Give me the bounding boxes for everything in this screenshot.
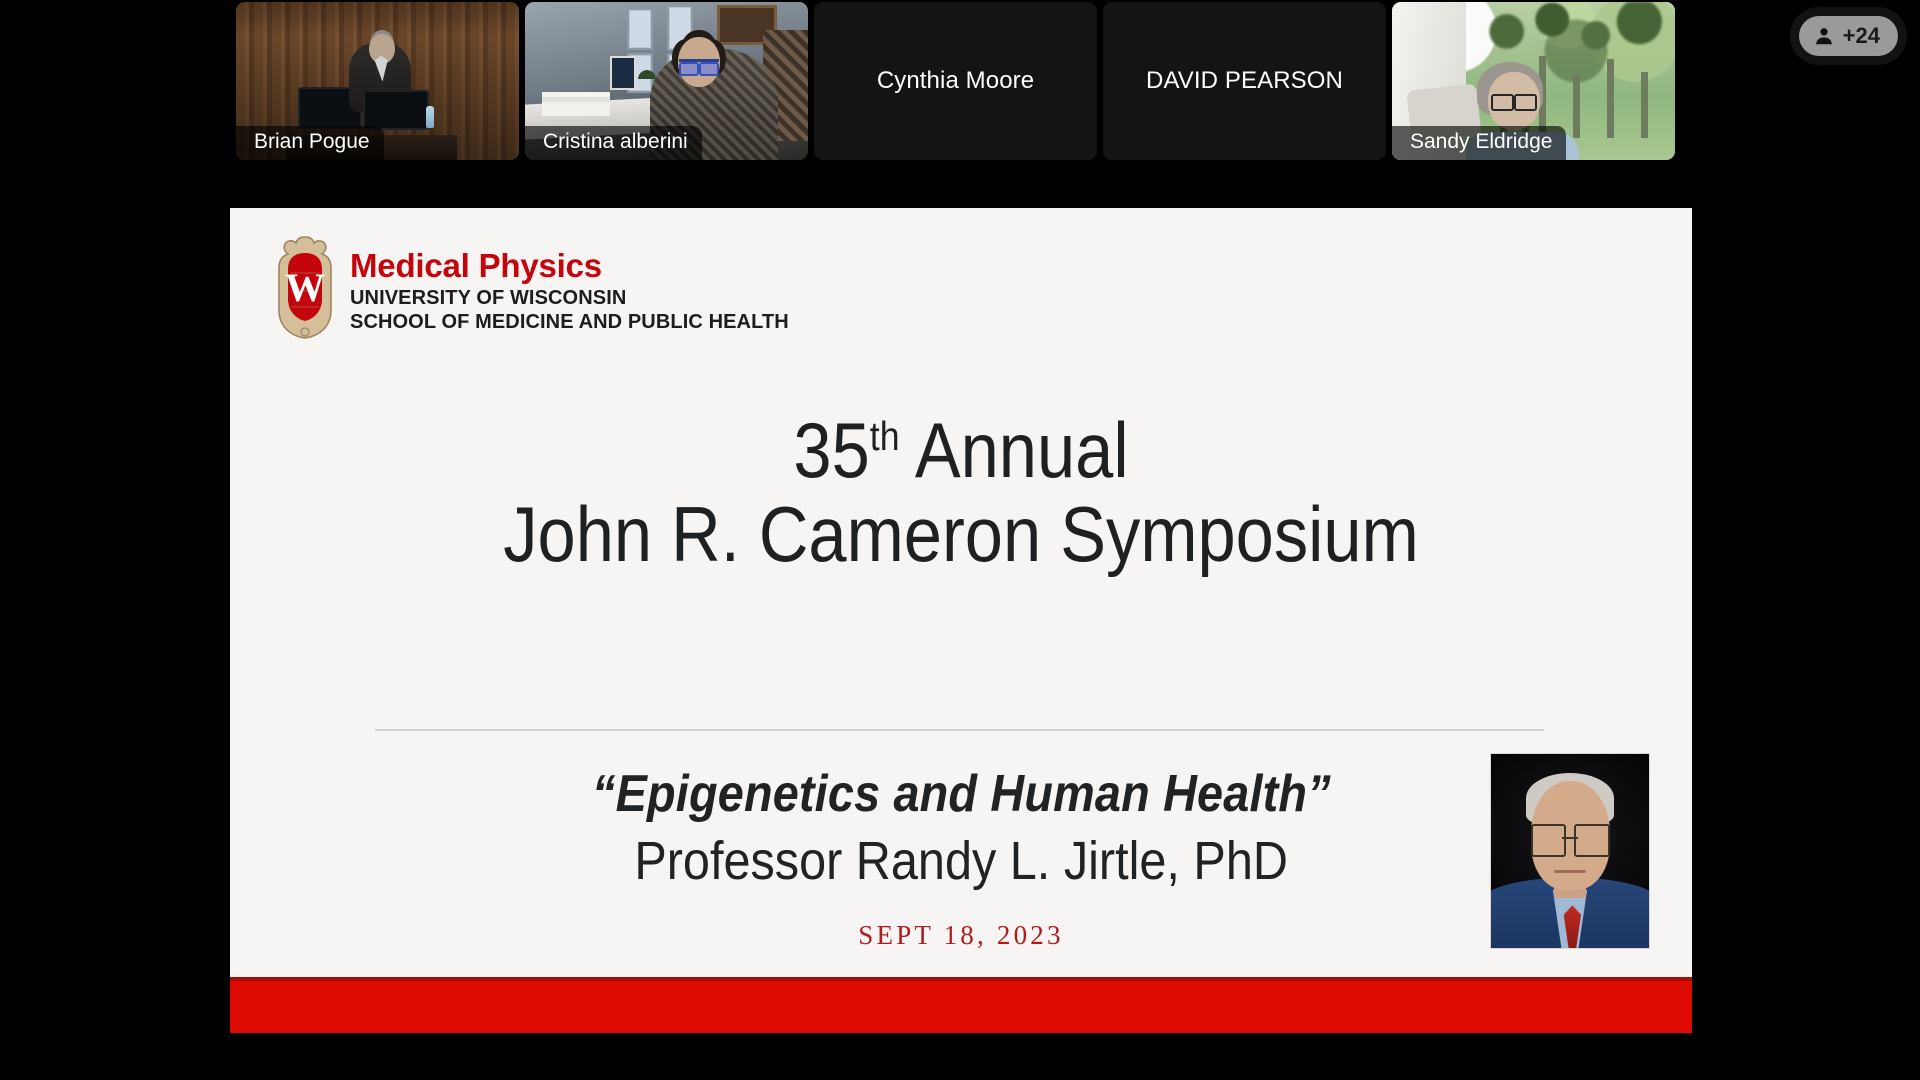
shared-slide[interactable]: W Medical Physics UNIVERSITY OF WISCONSI… bbox=[230, 208, 1692, 1033]
participant-tile-cynthia-moore[interactable]: Cynthia Moore bbox=[814, 2, 1097, 160]
participant-tile-david-pearson[interactable]: DAVID PEARSON bbox=[1103, 2, 1386, 160]
uw-medical-physics-logo: W Medical Physics UNIVERSITY OF WISCONSI… bbox=[274, 235, 789, 339]
speaker-name: Professor Randy L. Jirtle, PhD bbox=[634, 830, 1288, 892]
talk-title: “Epigenetics and Human Health” bbox=[592, 764, 1331, 824]
participant-name-label: Sandy Eldridge bbox=[1392, 126, 1566, 160]
event-date: SEPT 18, 2023 bbox=[230, 920, 1692, 951]
svg-text:W: W bbox=[285, 265, 325, 310]
speaker-portrait bbox=[1490, 753, 1650, 949]
participant-name-label: Cristina alberini bbox=[525, 126, 702, 160]
participant-name-label: Cynthia Moore bbox=[877, 67, 1034, 95]
headline-line1-rest: Annual bbox=[900, 406, 1129, 494]
zoom-meeting-window: Brian Pogue Cristina albe bbox=[0, 0, 1920, 1080]
participant-tile-sandy-eldridge[interactable]: Sandy Eldridge bbox=[1392, 2, 1675, 160]
headline-ordinal-suffix: th bbox=[870, 413, 900, 459]
slide-content: W Medical Physics UNIVERSITY OF WISCONSI… bbox=[230, 208, 1692, 977]
participant-name-label: DAVID PEARSON bbox=[1146, 67, 1343, 95]
logo-subtitle-school: SCHOOL OF MEDICINE AND PUBLIC HEALTH bbox=[350, 312, 789, 332]
slide-headline: 35th Annual John R. Cameron Symposium bbox=[318, 408, 1605, 576]
logo-title: Medical Physics bbox=[350, 249, 789, 282]
participant-name-label: Brian Pogue bbox=[236, 126, 384, 160]
overflow-count-label: +24 bbox=[1843, 23, 1880, 49]
logo-subtitle-university: UNIVERSITY OF WISCONSIN bbox=[350, 288, 789, 308]
slide-subtitle-block: “Epigenetics and Human Health” Professor… bbox=[230, 764, 1692, 951]
participants-overflow-badge[interactable]: +24 bbox=[1799, 16, 1898, 56]
horizontal-divider bbox=[375, 729, 1544, 731]
headline-ordinal-number: 35 bbox=[793, 406, 869, 494]
headline-line2: John R. Cameron Symposium bbox=[318, 492, 1605, 576]
participant-tile-brian-pogue[interactable]: Brian Pogue bbox=[236, 2, 519, 160]
slide-footer-bar bbox=[230, 977, 1692, 1033]
participant-tile-cristina-alberini[interactable]: Cristina alberini bbox=[525, 2, 808, 160]
uw-crest-icon: W bbox=[274, 235, 336, 339]
participant-filmstrip: Brian Pogue Cristina albe bbox=[236, 2, 1696, 160]
person-icon bbox=[1813, 25, 1835, 47]
